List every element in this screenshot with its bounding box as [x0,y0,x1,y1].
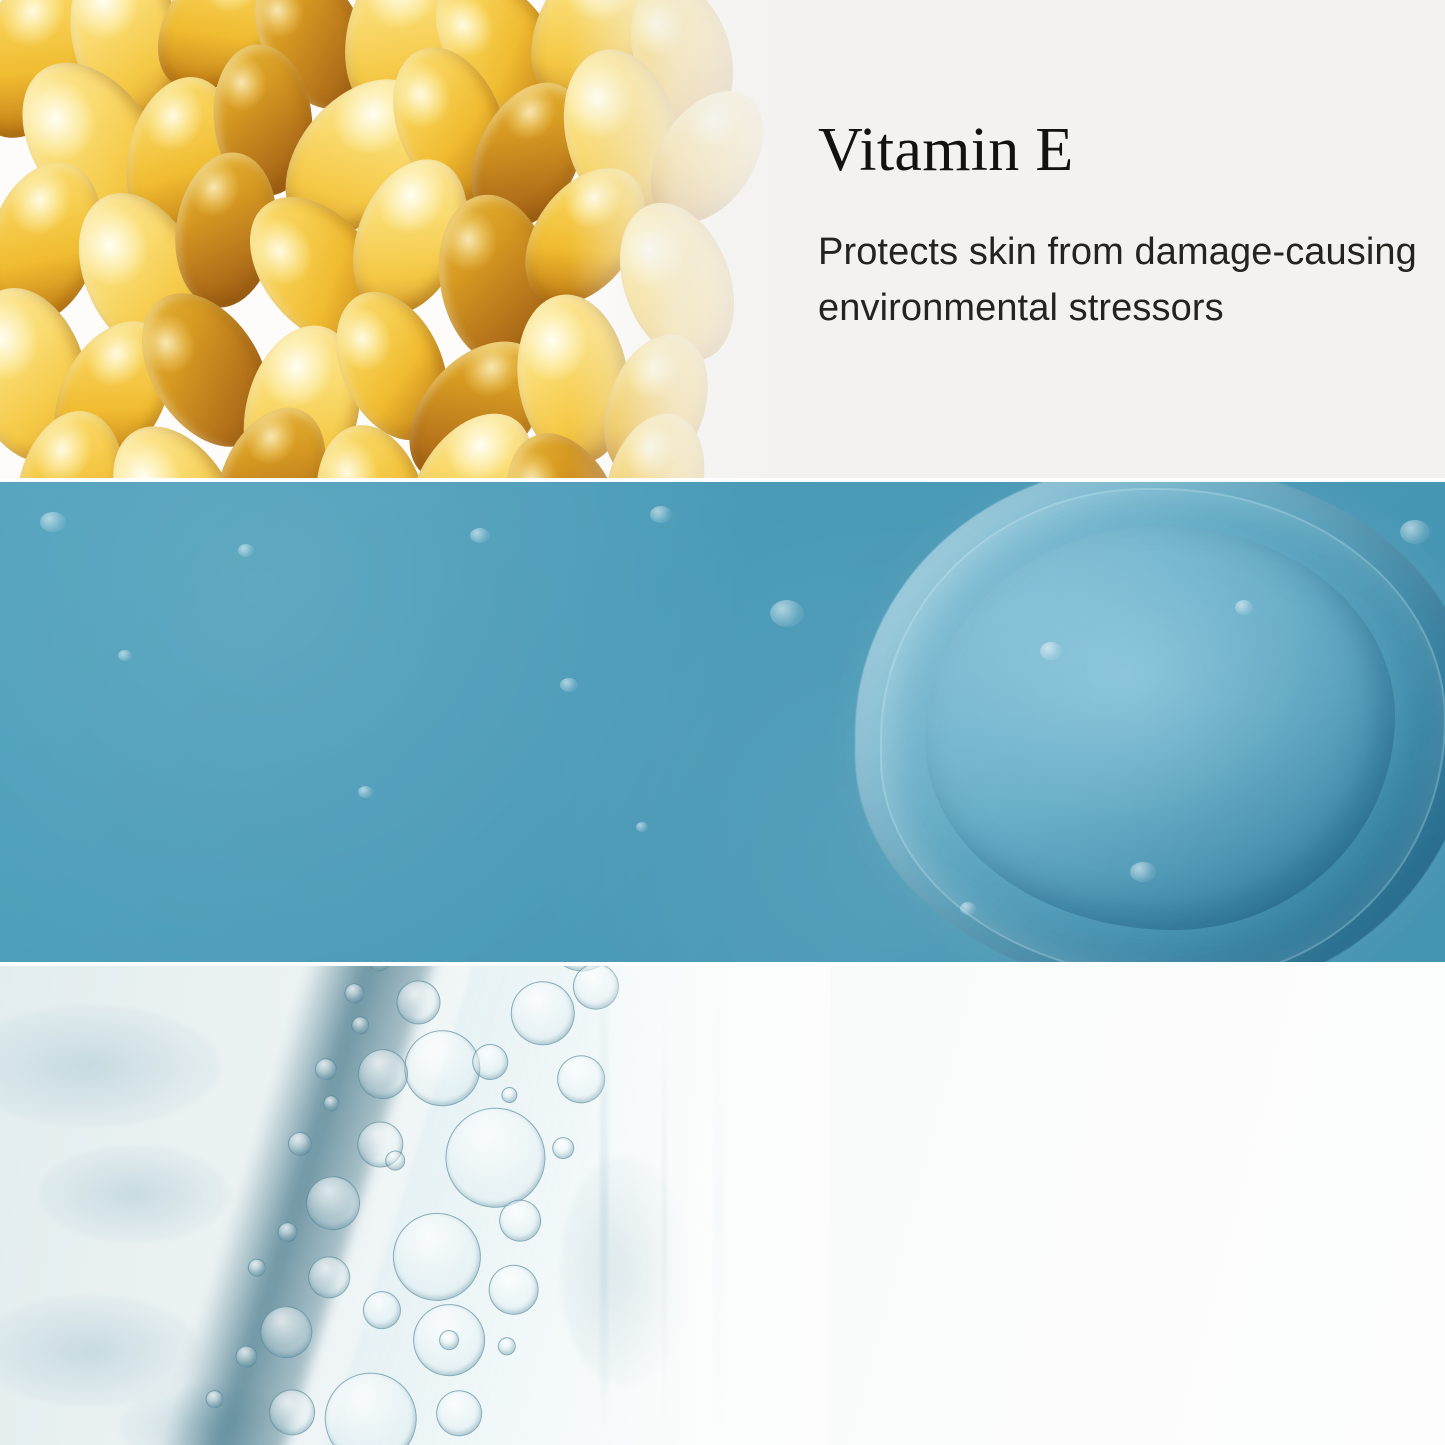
micro-bubble [40,512,66,532]
bubble [433,1095,558,1220]
infographic-board: Vitamin E Protects skin from damage-caus… [0,0,1445,1445]
bubble [349,1014,371,1036]
bubble [218,1439,280,1445]
bubble [285,1129,315,1159]
micro-bubble [650,506,672,523]
bubble [233,1343,260,1370]
vitamin-e-description: Protects skin from damage-causing enviro… [818,225,1418,336]
micro-bubble [1130,862,1156,882]
bubble [426,966,481,970]
divider-bottom [0,962,1445,966]
bubble [499,1085,519,1105]
bubble [352,1043,414,1105]
panel-vitamin-e: Vitamin E Protects skin from damage-caus… [0,0,1445,478]
bubble [254,1300,319,1365]
bubble [246,1257,268,1279]
bubble [382,1202,492,1312]
micro-bubble [1235,600,1253,615]
vitamin-e-text-block: Vitamin E Protects skin from damage-caus… [818,118,1418,336]
vitamin-e-title: Vitamin E [818,118,1418,183]
micro-bubble [960,902,976,915]
panel-hyaluronic-acid: Hyaluronic Acid Promotes glowing skin wi… [0,482,1445,963]
glass-streak [714,976,724,1436]
bubble [275,1220,300,1245]
swirl-mark [0,1006,220,1126]
micro-bubble [238,544,254,557]
micro-bubble [1040,642,1062,660]
bubble [313,1361,428,1445]
micro-bubble [118,650,132,661]
bubble [203,1388,225,1410]
bubble [364,966,394,974]
swirl-mark [560,1156,690,1386]
micro-bubble [636,822,648,832]
vitamin-e-capsules-image [0,0,800,478]
bubble [321,1093,341,1113]
bubble [312,1056,339,1083]
bubble [303,1251,355,1303]
bubble [503,973,583,1053]
gel-droplet-inner-core [925,526,1395,930]
bubble [263,1384,320,1441]
micro-bubble [560,678,578,692]
bubble [391,975,446,1030]
micro-bubble [470,528,490,543]
panel-niacinamide: Special-Grade Niacinamide Protects skin … [0,966,1445,1445]
bubble [358,1286,405,1333]
bubble [299,1169,366,1236]
niacinamide-bubbles-image [0,966,830,1445]
micro-bubble [1400,520,1430,544]
divider-top [0,478,1445,482]
bubble [342,981,367,1006]
micro-bubble [770,600,804,627]
micro-bubble [358,786,373,798]
